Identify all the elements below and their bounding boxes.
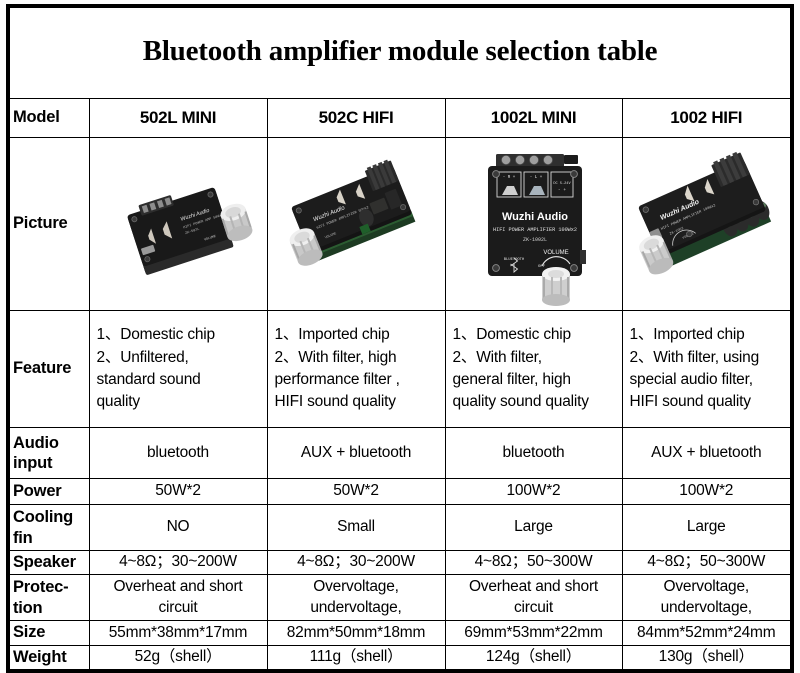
feature-row: Feature 1、Domestic chip 2、Unfiltered, st… (8, 311, 792, 428)
svg-text:ZK-1002L: ZK-1002L (522, 237, 546, 243)
size-col1: 55mm*38mm*17mm (89, 621, 267, 646)
cooling-fin-col1: NO (89, 505, 267, 551)
cooling-fin-col3: Large (445, 505, 622, 551)
power-col3: 100W*2 (445, 479, 622, 505)
svg-text:OFF: OFF (538, 265, 546, 269)
protection-line: Overvoltage, (268, 577, 445, 597)
product-image-col3: - R + - L + DC 5-24V - + Wuzhi Audio HIF… (445, 138, 622, 311)
protection-col2: Overvoltage, undervoltage, (267, 575, 445, 621)
protection-row: Protec- tion Overheat and short circuit … (8, 575, 792, 621)
speaker-row: Speaker 4~8Ω；30~200W 4~8Ω；30~200W 4~8Ω；5… (8, 551, 792, 575)
audio-input-row: Audio input bluetooth AUX + bluetooth bl… (8, 428, 792, 479)
feature-col1: 1、Domestic chip 2、Unfiltered, standard s… (89, 311, 267, 428)
cooling-fin-col4: Large (622, 505, 792, 551)
amplifier-board-1002-hifi-icon: Wuzhi Audio HIFI POWER AMPLIFIER 100Wx2 … (623, 140, 791, 308)
volume-knob (542, 267, 570, 306)
speaker-col3: 4~8Ω；50~300W (445, 551, 622, 575)
title-row: Bluetooth amplifier module selection tab… (8, 6, 792, 99)
speaker-col2: 4~8Ω；30~200W (267, 551, 445, 575)
power-col2: 50W*2 (267, 479, 445, 505)
svg-text:- +: - + (557, 188, 566, 193)
audio-input-col2: AUX + bluetooth (267, 428, 445, 479)
amplifier-board-502l-mini-icon: Wuzhi Audio HIFI POWER AMP 50Wx2 ZK-502L… (94, 140, 262, 308)
feature-line: quality sound quality (453, 391, 618, 413)
cooling-fin-col2: Small (267, 505, 445, 551)
picture-row: Picture (8, 138, 792, 311)
feature-line: 2、Unfiltered, (97, 347, 263, 369)
row-label-cooling-fin: Cooling fin (8, 505, 89, 551)
speaker-col4: 4~8Ω；50~300W (622, 551, 792, 575)
feature-line: performance filter , (275, 369, 441, 391)
weight-row: Weight 52g（shell） 111g（shell） 124g（shell… (8, 646, 792, 672)
svg-text:- L +: - L + (529, 176, 542, 180)
protection-col4: Overvoltage, undervoltage, (622, 575, 792, 621)
feature-line: 2、With filter, using (630, 347, 787, 369)
size-row: Size 55mm*38mm*17mm 82mm*50mm*18mm 69mm*… (8, 621, 792, 646)
page-root: Bluetooth amplifier module selection tab… (0, 0, 800, 665)
protection-line: Overvoltage, (623, 577, 791, 597)
svg-text:HIFI POWER AMPLIFIER 100Wx2: HIFI POWER AMPLIFIER 100Wx2 (492, 227, 576, 233)
row-label-line: fin (13, 529, 33, 547)
spec-table: Bluetooth amplifier module selection tab… (6, 4, 794, 673)
row-label-size: Size (8, 621, 89, 646)
audio-input-col1: bluetooth (89, 428, 267, 479)
power-col4: 100W*2 (622, 479, 792, 505)
feature-col4: 1、Imported chip 2、With filter, using spe… (622, 311, 792, 428)
feature-line: 1、Imported chip (275, 324, 441, 346)
svg-text:VOLUME: VOLUME (543, 250, 568, 256)
audio-input-col4: AUX + bluetooth (622, 428, 792, 479)
row-label-feature: Feature (8, 311, 89, 428)
row-label-protection: Protec- tion (8, 575, 89, 621)
table-title-cell: Bluetooth amplifier module selection tab… (8, 6, 792, 99)
product-image-col2: Wuzhi Audio HIFI POWER AMPLIFIER 50Wx2 V… (267, 138, 445, 311)
weight-col3: 124g（shell） (445, 646, 622, 672)
feature-line: standard sound (97, 369, 263, 391)
svg-text:Wuzhi Audio: Wuzhi Audio (502, 211, 568, 223)
row-label-line: Audio (13, 434, 59, 452)
product-image-col1: Wuzhi Audio HIFI POWER AMP 50Wx2 ZK-502L… (89, 138, 267, 311)
protection-line: Overheat and short (446, 577, 622, 597)
size-col2: 82mm*50mm*18mm (267, 621, 445, 646)
model-name-col3: 1002L MINI (445, 99, 622, 138)
protection-line: circuit (90, 598, 267, 618)
feature-line: 1、Imported chip (630, 324, 787, 346)
weight-col2: 111g（shell） (267, 646, 445, 672)
row-label-power: Power (8, 479, 89, 505)
cooling-fin-row: Cooling fin NO Small Large Large (8, 505, 792, 551)
feature-line: 1、Domestic chip (453, 324, 618, 346)
weight-col4: 130g（shell） (622, 646, 792, 672)
product-image-col4: Wuzhi Audio HIFI POWER AMPLIFIER 100Wx2 … (622, 138, 792, 311)
svg-text:BLUETOOTH: BLUETOOTH (503, 258, 524, 262)
audio-input-col3: bluetooth (445, 428, 622, 479)
feature-line: special audio filter, (630, 369, 787, 391)
row-label-line: Protec- (13, 578, 68, 596)
protection-line: undervoltage, (623, 598, 791, 618)
feature-line: HIFI sound quality (275, 391, 441, 413)
page-title: Bluetooth amplifier module selection tab… (16, 33, 784, 70)
feature-line: HIFI sound quality (630, 391, 787, 413)
model-name-col4: 1002 HIFI (622, 99, 792, 138)
power-col1: 50W*2 (89, 479, 267, 505)
protection-line: Overheat and short (90, 577, 267, 597)
protection-col3: Overheat and short circuit (445, 575, 622, 621)
feature-line: general filter, high (453, 369, 618, 391)
screw-terminal-block (496, 154, 578, 167)
row-label-picture: Picture (8, 138, 89, 311)
model-name-col1: 502L MINI (89, 99, 267, 138)
size-col4: 84mm*52mm*24mm (622, 621, 792, 646)
amplifier-board-502c-hifi-icon: Wuzhi Audio HIFI POWER AMPLIFIER 50Wx2 V… (272, 140, 440, 308)
model-row: Model 502L MINI 502C HIFI 1002L MINI 100… (8, 99, 792, 138)
weight-col1: 52g（shell） (89, 646, 267, 672)
row-label-line: tion (13, 599, 42, 617)
speaker-col1: 4~8Ω；30~200W (89, 551, 267, 575)
protection-line: undervoltage, (268, 598, 445, 618)
row-label-speaker: Speaker (8, 551, 89, 575)
feature-col3: 1、Domestic chip 2、With filter, general f… (445, 311, 622, 428)
feature-line: 1、Domestic chip (97, 324, 263, 346)
row-label-model: Model (8, 99, 89, 138)
model-name-col2: 502C HIFI (267, 99, 445, 138)
row-label-audio-input: Audio input (8, 428, 89, 479)
row-label-weight: Weight (8, 646, 89, 672)
feature-line: quality (97, 391, 263, 413)
feature-line: 2、With filter, high (275, 347, 441, 369)
feature-line: 2、With filter, (453, 347, 618, 369)
feature-col2: 1、Imported chip 2、With filter, high perf… (267, 311, 445, 428)
protection-line: circuit (446, 598, 622, 618)
power-row: Power 50W*2 50W*2 100W*2 100W*2 (8, 479, 792, 505)
svg-text:- R +: - R + (502, 176, 515, 180)
row-label-line: Cooling (13, 508, 73, 526)
row-label-line: input (13, 454, 52, 472)
amplifier-board-1002l-mini-icon: - R + - L + DC 5-24V - + Wuzhi Audio HIF… (450, 140, 618, 308)
size-col3: 69mm*53mm*22mm (445, 621, 622, 646)
protection-col1: Overheat and short circuit (89, 575, 267, 621)
svg-text:DC 5-24V: DC 5-24V (553, 182, 571, 186)
